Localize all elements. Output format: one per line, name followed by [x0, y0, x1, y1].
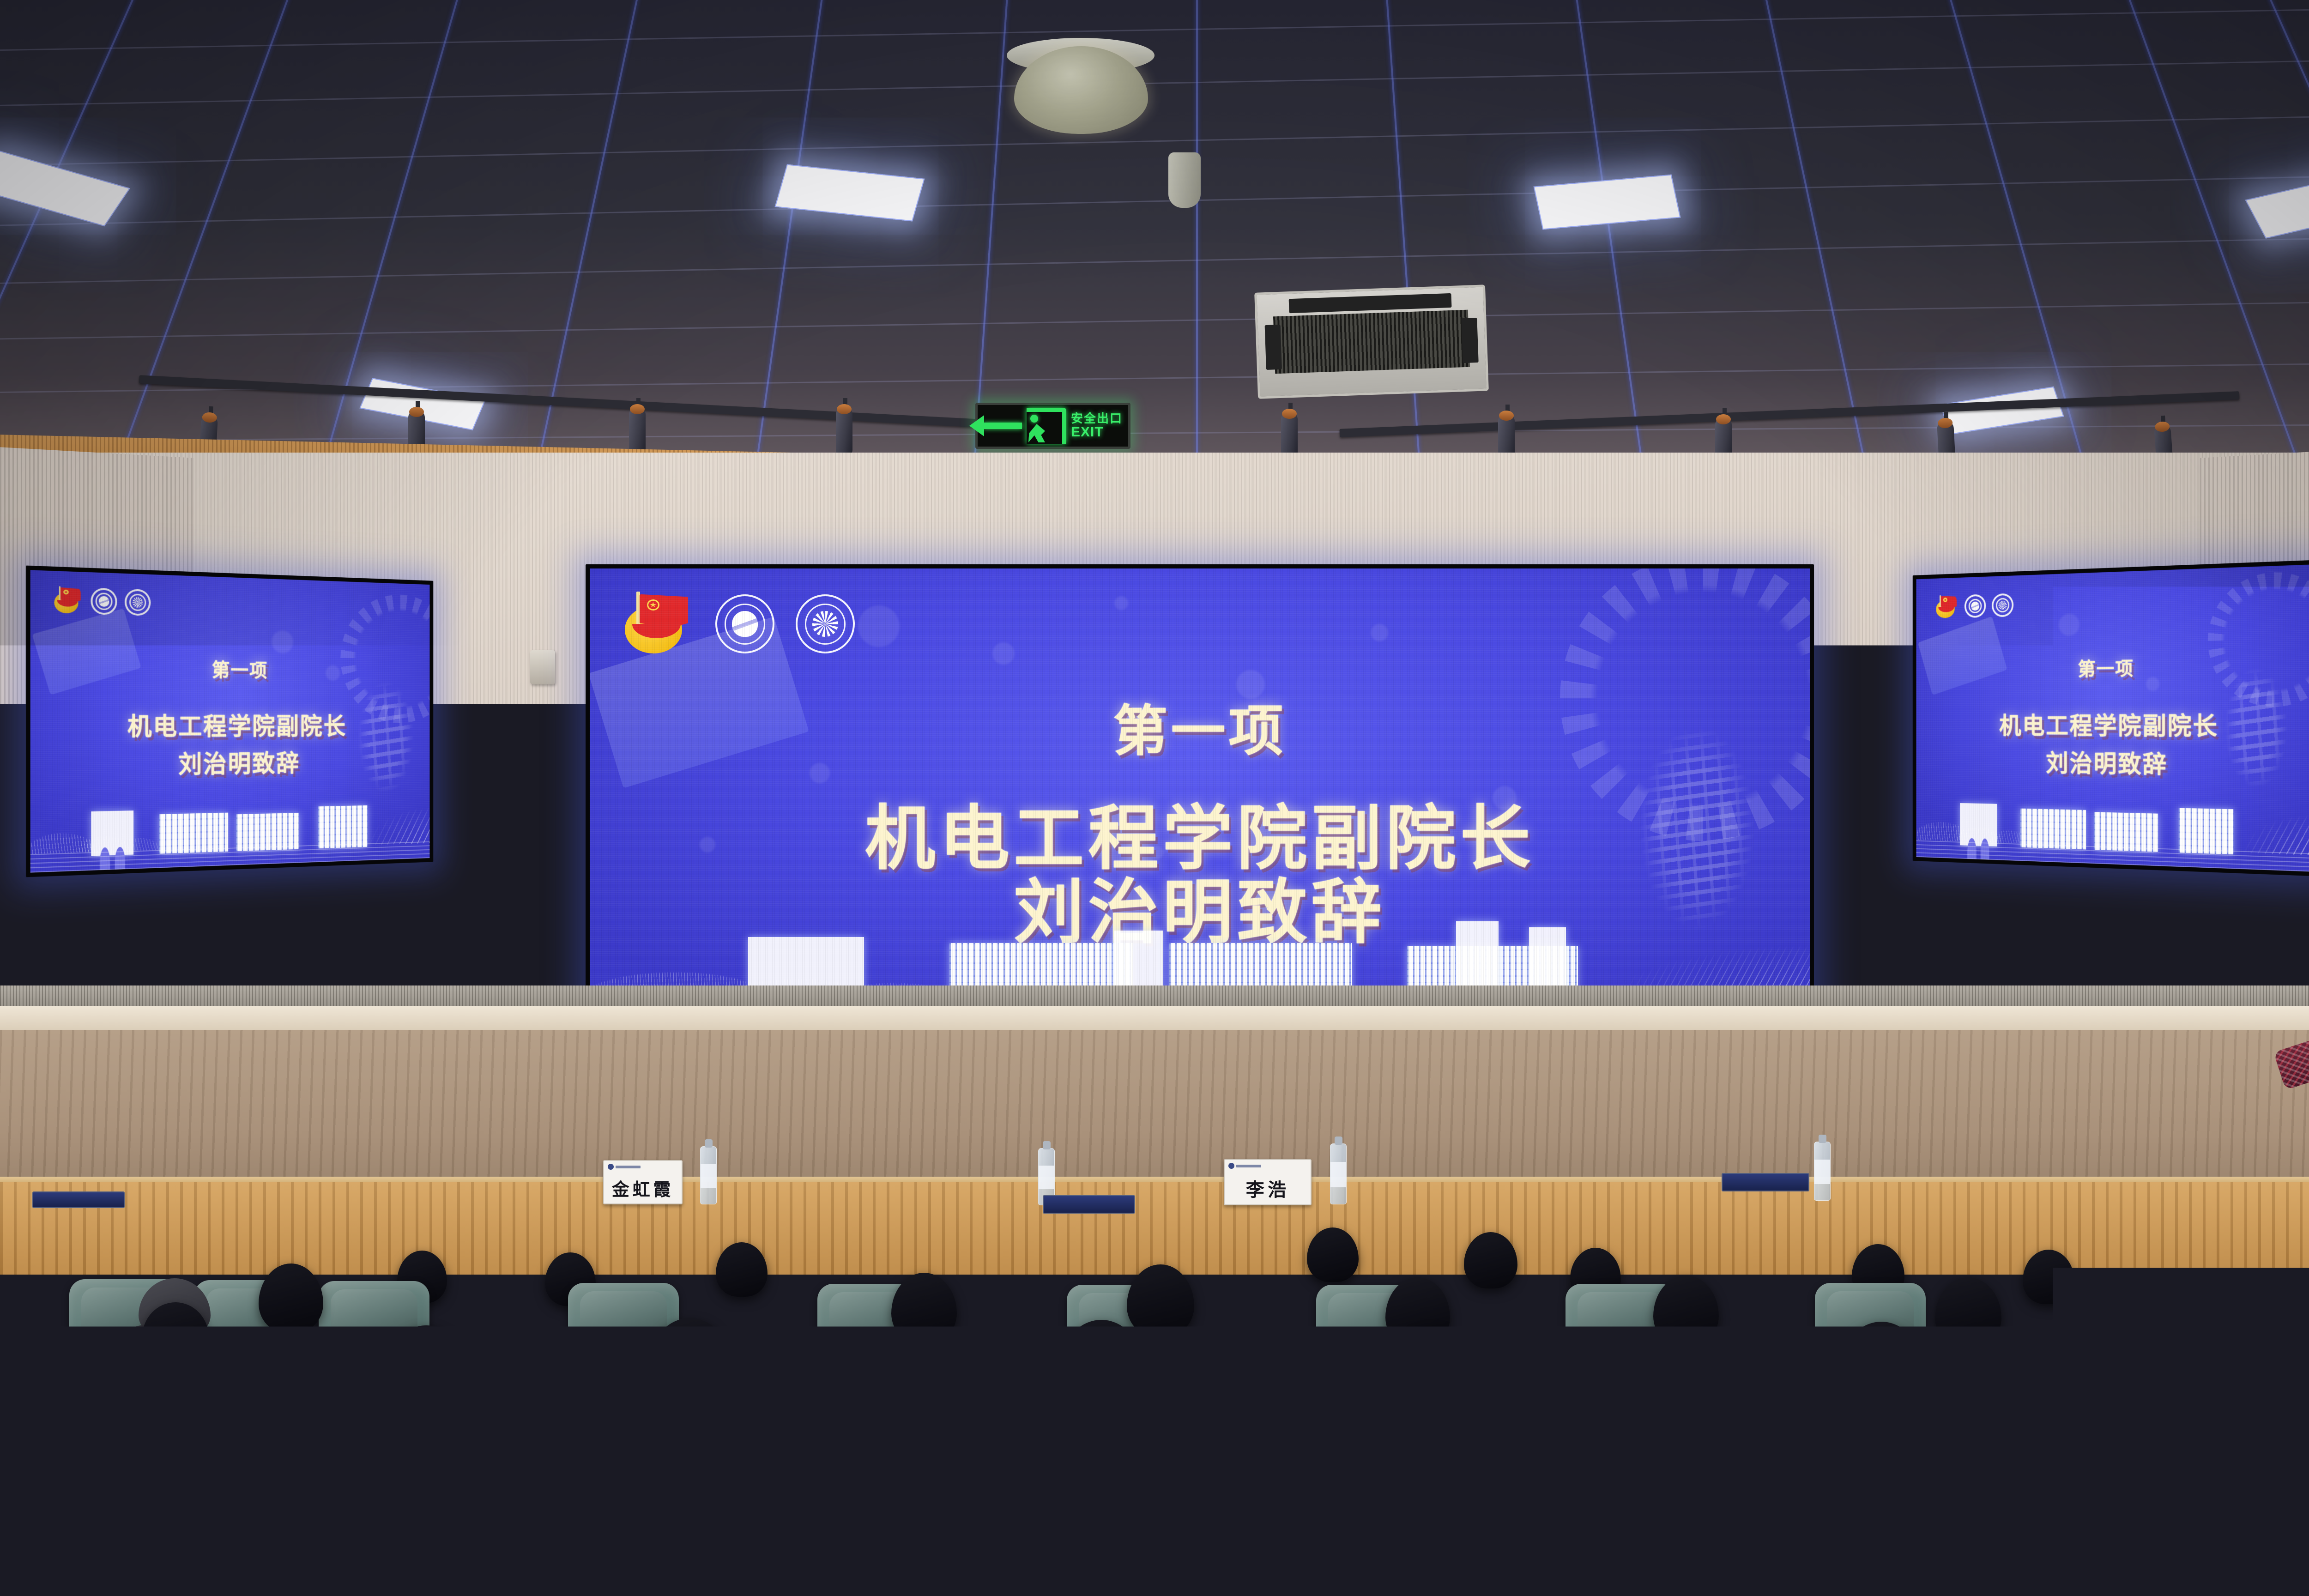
main-led-wall: 第一项 机电工程学院副院长 刘治明致辞 — [586, 564, 1814, 1035]
auditorium-seat — [2170, 1539, 2309, 1596]
audience-head — [259, 1263, 323, 1333]
wall-speaker — [1845, 656, 1870, 690]
campus-skyline-illustration — [30, 765, 430, 873]
slide-logos — [620, 592, 855, 656]
wooden-podium — [438, 918, 576, 1070]
auditorium-seat — [683, 1542, 924, 1596]
stage-riser-kick — [0, 985, 2309, 1009]
left-display-line1: 机电工程学院副院长 — [30, 706, 430, 743]
exit-sign-label-en: EXIT — [1071, 425, 1123, 440]
university-emblem-icon — [91, 587, 117, 615]
seated-audience — [0, 1173, 2309, 1596]
ceiling-panel-light — [775, 164, 925, 221]
communist-youth-league-emblem-icon — [1934, 594, 1959, 619]
left-wall-display: 第一项 机电工程学院副院长 刘治明致辞 — [26, 566, 433, 877]
audience-head — [716, 1242, 768, 1297]
cassette-ac-vent — [1254, 284, 1489, 399]
audience-head — [891, 1273, 957, 1343]
auditorium-photo: 安全出口 EXIT — [0, 0, 2309, 1596]
mechanical-engineering-gear-emblem-icon — [1992, 593, 2013, 617]
university-emblem-icon — [715, 594, 774, 653]
lighting-track-rail — [139, 375, 1015, 429]
mechanical-engineering-gear-emblem-icon — [796, 594, 855, 653]
slide-item-number: 第一项 — [590, 687, 1810, 766]
right-display-line1: 机电工程学院副院长 — [1916, 706, 2309, 742]
audience-head — [1127, 1264, 1194, 1336]
track-spotlight — [836, 407, 852, 457]
communist-youth-league-emblem-icon — [52, 586, 83, 615]
auditorium-seat — [1219, 1542, 1459, 1596]
slide-logos — [52, 586, 151, 617]
ceiling — [0, 0, 2309, 499]
speaker-glasses-icon — [489, 828, 541, 840]
auditorium-seat — [1755, 1541, 1995, 1596]
ceiling-panel-light — [1534, 175, 1681, 230]
running-person-icon — [1027, 408, 1066, 444]
auditorium-seat — [0, 1538, 185, 1596]
slide-logos — [1934, 592, 2013, 619]
exit-arrow-left-icon — [983, 423, 1022, 429]
ceiling-panel-light — [0, 150, 130, 227]
audience-head — [2170, 1284, 2235, 1352]
photographer-at-right-edge — [2263, 974, 2309, 1233]
lighting-track-rail — [1339, 391, 2239, 437]
wall-speaker — [530, 650, 555, 684]
wall-speaker — [59, 935, 92, 953]
right-wall-display: 第一项 机电工程学院副院长 刘治明致辞 — [1913, 560, 2309, 876]
mechanical-engineering-gear-emblem-icon — [125, 589, 151, 616]
audience-head — [1307, 1227, 1359, 1282]
communist-youth-league-emblem-icon — [620, 592, 694, 656]
audience-head — [1935, 1277, 2001, 1348]
campus-skyline-illustration — [1916, 762, 2309, 872]
exit-sign-label-cn: 安全出口 — [1071, 412, 1123, 425]
audience-head — [1464, 1232, 1517, 1288]
ceiling-panel-light — [2245, 169, 2309, 239]
audience-head — [2230, 1326, 2309, 1418]
exit-sign: 安全出口 EXIT — [975, 403, 1130, 449]
university-emblem-icon — [1964, 594, 1986, 618]
ceiling-speaker — [1168, 152, 1201, 208]
